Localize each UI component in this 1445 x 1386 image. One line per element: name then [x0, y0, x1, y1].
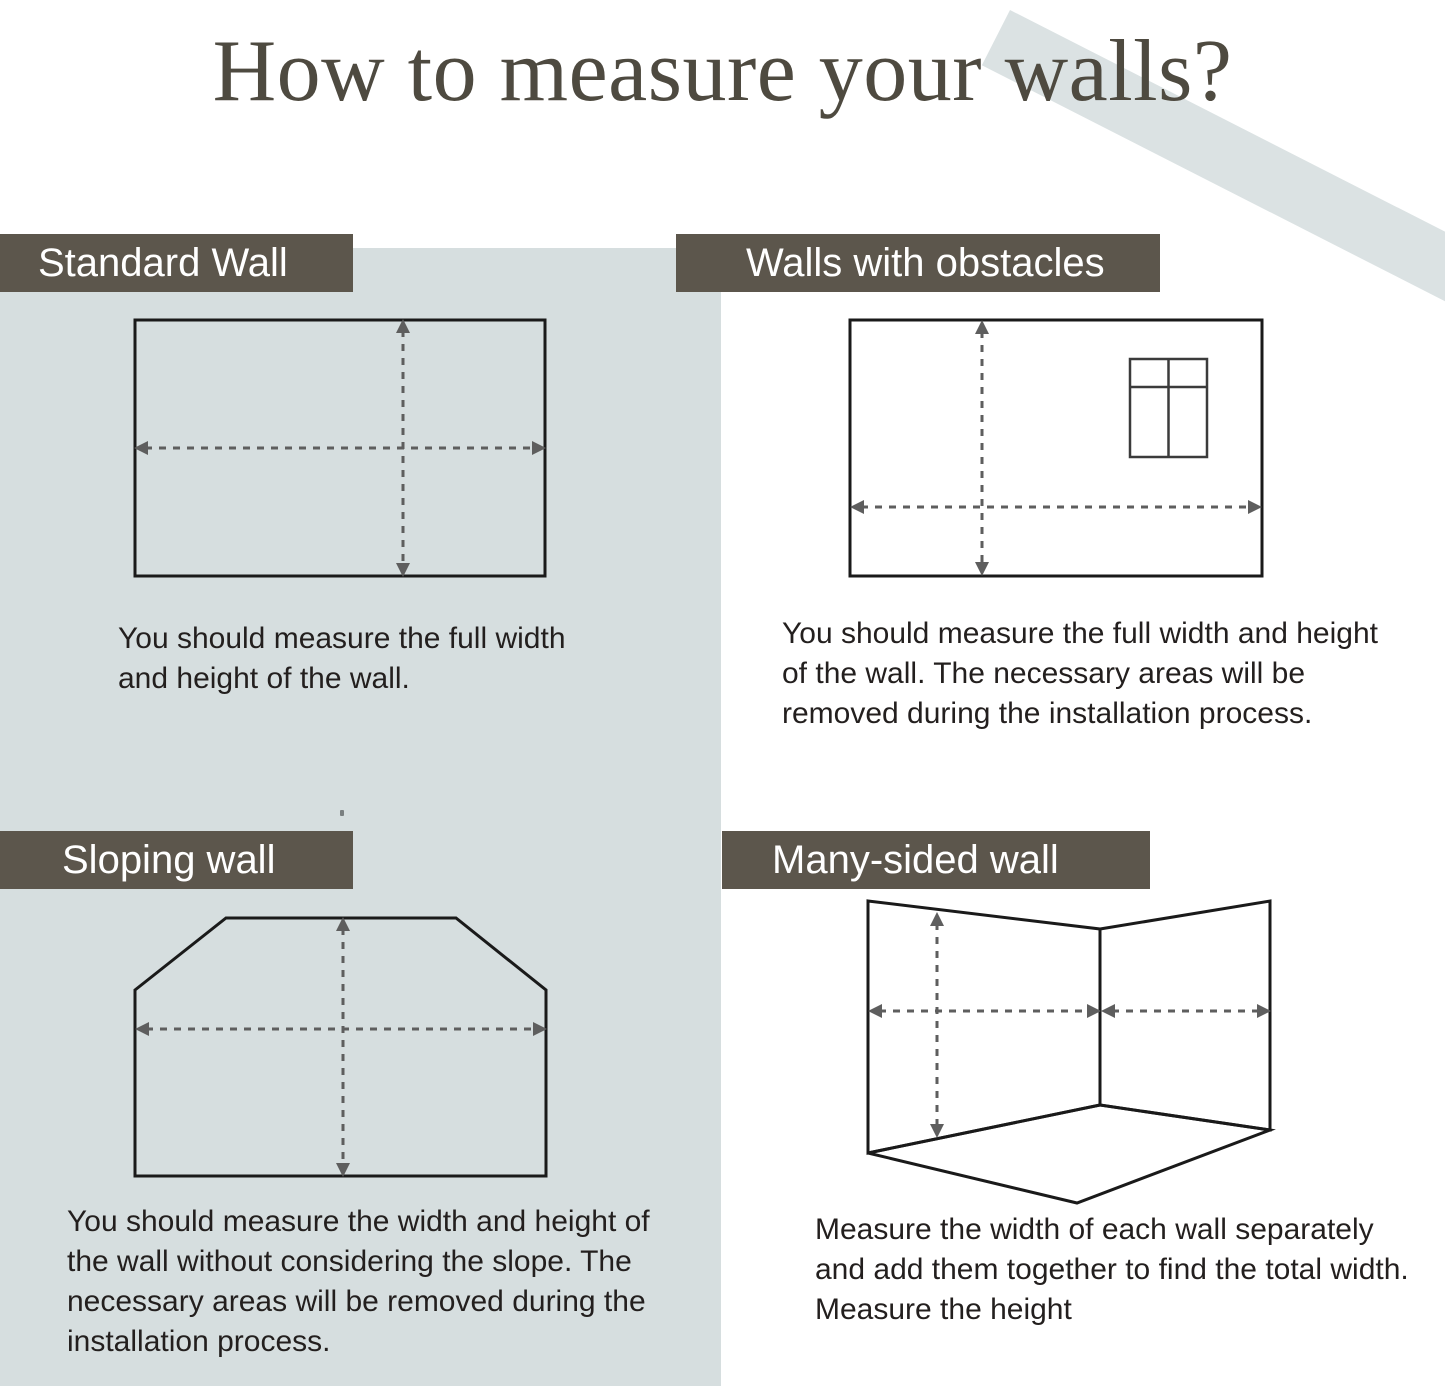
- page-title: How to measure your walls?: [0, 24, 1445, 121]
- speck-artifact: [340, 810, 344, 816]
- width-arrow-right-icon: [1248, 500, 1262, 514]
- height-arrow-up-icon: [930, 912, 944, 926]
- sloping-wall-diagram: [110, 895, 580, 1195]
- sloping-wall-outline: [135, 918, 546, 1176]
- left-wall-face: [868, 901, 1100, 1153]
- section-caption-walls-with-obstacles: You should measure the full width and he…: [782, 614, 1407, 734]
- section-header-sloping-wall: Sloping wall: [0, 831, 353, 889]
- right-wall-width-arrow-left-icon: [1101, 1004, 1115, 1018]
- height-arrow-down-icon: [975, 562, 989, 576]
- section-caption-many-sided-wall: Measure the width of each wall separatel…: [815, 1210, 1415, 1330]
- section-header-walls-with-obstacles: Walls with obstacles: [676, 234, 1160, 292]
- right-wall-face: [1100, 901, 1270, 1130]
- standard-wall-diagram: [110, 300, 580, 600]
- section-header-label-walls-with-obstacles: Walls with obstacles: [676, 234, 1105, 292]
- infographic-root: How to measure your walls? Standard Wall…: [0, 0, 1445, 1386]
- section-header-many-sided-wall: Many-sided wall: [722, 831, 1150, 889]
- left-wall-width-arrow-left-icon: [868, 1004, 882, 1018]
- width-arrow-left-icon: [850, 500, 864, 514]
- width-arrow-left-icon: [135, 1022, 149, 1036]
- height-arrow-down-icon: [930, 1124, 944, 1138]
- section-caption-sloping-wall: You should measure the width and height …: [67, 1202, 652, 1362]
- walls-with-obstacles-diagram: [830, 300, 1300, 600]
- many-sided-wall-diagram: [840, 885, 1310, 1215]
- section-header-label-standard-wall: Standard Wall: [0, 234, 288, 292]
- section-header-label-many-sided-wall: Many-sided wall: [722, 831, 1059, 889]
- floor-face: [868, 1105, 1270, 1203]
- section-caption-standard-wall: You should measure the full width and he…: [118, 619, 588, 699]
- section-header-label-sloping-wall: Sloping wall: [0, 831, 275, 889]
- section-header-standard-wall: Standard Wall: [0, 234, 353, 292]
- height-arrow-up-icon: [975, 320, 989, 334]
